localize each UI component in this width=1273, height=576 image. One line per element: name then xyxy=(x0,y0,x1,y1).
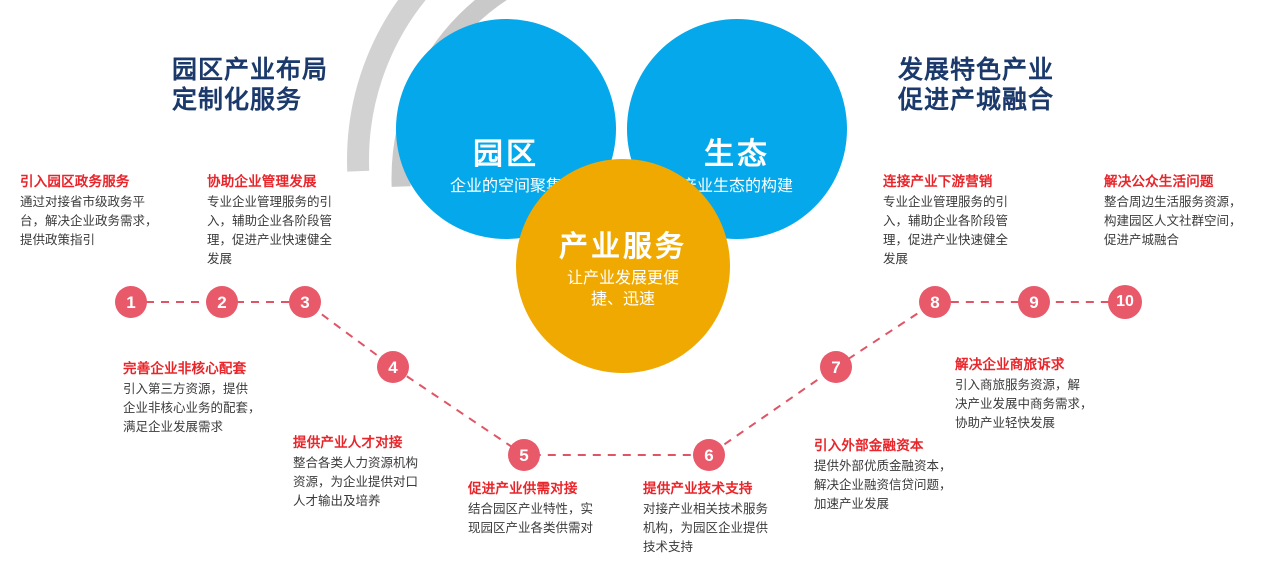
step-block-4-body: 整合各类人力资源机构 资源，为企业提供对口 人才输出及培养 xyxy=(293,454,473,511)
step-badge-6[interactable]: 6 xyxy=(693,439,725,471)
step-block-6-body: 对接产业相关技术服务 机构，为园区企业提供 技术支持 xyxy=(643,500,815,557)
infographic-canvas: 园区产业布局 定制化服务 发展特色产业 促进产城融合 园区 企业的空间聚集 生态… xyxy=(0,0,1273,576)
step-block-7-body: 提供外部优质金融资本， 解决企业融资信贷问题， 加速产业发展 xyxy=(814,457,1000,514)
step-block-5: 促进产业供需对接 结合园区产业特性，实 现园区产业各类供需对 xyxy=(468,480,638,538)
step-block-2-body: 专业企业管理服务的引 入，辅助企业各阶段管 理，促进产业快速健全 发展 xyxy=(207,193,387,269)
step-block-2: 协助企业管理发展 专业企业管理服务的引 入，辅助企业各阶段管 理，促进产业快速健… xyxy=(207,173,387,269)
step-badge-9[interactable]: 9 xyxy=(1018,286,1050,318)
step-block-10-title: 解决公众生活问题 xyxy=(1104,173,1273,190)
core-circle-industry-service-subtitle: 让产业发展更便 捷、迅速 xyxy=(567,268,679,310)
step-block-10: 解决公众生活问题 整合周边生活服务资源， 构建园区人文社群空间， 促进产城融合 xyxy=(1104,173,1273,250)
step-block-5-body: 结合园区产业特性，实 现园区产业各类供需对 xyxy=(468,500,638,538)
step-block-9: 连接产业下游营销 专业企业管理服务的引 入，辅助企业各阶段管 理，促进产业快速健… xyxy=(883,173,1063,269)
step-block-8-title: 解决企业商旅诉求 xyxy=(955,356,1140,373)
step-block-8-body: 引入商旅服务资源，解 决产业发展中商务需求， 协助产业轻快发展 xyxy=(955,376,1140,433)
step-block-4-title: 提供产业人才对接 xyxy=(293,434,473,451)
step-block-1: 引入园区政务服务 通过对接省市级政务平 台，解决企业政务需求， 提供政策指引 xyxy=(20,173,196,250)
step-block-5-title: 促进产业供需对接 xyxy=(468,480,638,497)
step-badge-1[interactable]: 1 xyxy=(115,286,147,318)
step-block-6-title: 提供产业技术支持 xyxy=(643,480,815,497)
step-block-2-title: 协助企业管理发展 xyxy=(207,173,387,190)
step-block-3-title: 完善企业非核心配套 xyxy=(123,360,313,377)
step-block-3-body: 引入第三方资源，提供 企业非核心业务的配套， 满足企业发展需求 xyxy=(123,380,313,437)
step-block-7-title: 引入外部金融资本 xyxy=(814,437,1000,454)
step-badge-3[interactable]: 3 xyxy=(289,286,321,318)
step-block-4: 提供产业人才对接 整合各类人力资源机构 资源，为企业提供对口 人才输出及培养 xyxy=(293,434,473,511)
headline-left: 园区产业布局 定制化服务 xyxy=(172,55,328,115)
step-badge-4[interactable]: 4 xyxy=(377,351,409,383)
step-badge-10[interactable]: 10 xyxy=(1108,285,1142,319)
core-circle-industry-service-title: 产业服务 xyxy=(559,223,687,265)
headline-right: 发展特色产业 促进产城融合 xyxy=(898,55,1054,115)
step-block-10-body: 整合周边生活服务资源， 构建园区人文社群空间， 促进产城融合 xyxy=(1104,193,1273,250)
step-block-1-title: 引入园区政务服务 xyxy=(20,173,196,190)
step-badge-7[interactable]: 7 xyxy=(820,351,852,383)
step-block-9-title: 连接产业下游营销 xyxy=(883,173,1063,190)
step-block-8: 解决企业商旅诉求 引入商旅服务资源，解 决产业发展中商务需求， 协助产业轻快发展 xyxy=(955,356,1140,433)
step-block-9-body: 专业企业管理服务的引 入，辅助企业各阶段管 理，促进产业快速健全 发展 xyxy=(883,193,1063,269)
step-block-6: 提供产业技术支持 对接产业相关技术服务 机构，为园区企业提供 技术支持 xyxy=(643,480,815,557)
step-block-7: 引入外部金融资本 提供外部优质金融资本， 解决企业融资信贷问题， 加速产业发展 xyxy=(814,437,1000,514)
core-circle-ecology-title: 生态 xyxy=(704,129,770,173)
step-block-1-body: 通过对接省市级政务平 台，解决企业政务需求， 提供政策指引 xyxy=(20,193,196,250)
step-block-3: 完善企业非核心配套 引入第三方资源，提供 企业非核心业务的配套， 满足企业发展需… xyxy=(123,360,313,437)
core-circle-park-title: 园区 xyxy=(473,129,539,173)
step-badge-5[interactable]: 5 xyxy=(508,439,540,471)
core-circle-industry-service[interactable]: 产业服务 让产业发展更便 捷、迅速 xyxy=(516,159,730,373)
step-badge-8[interactable]: 8 xyxy=(919,286,951,318)
step-badge-2[interactable]: 2 xyxy=(206,286,238,318)
